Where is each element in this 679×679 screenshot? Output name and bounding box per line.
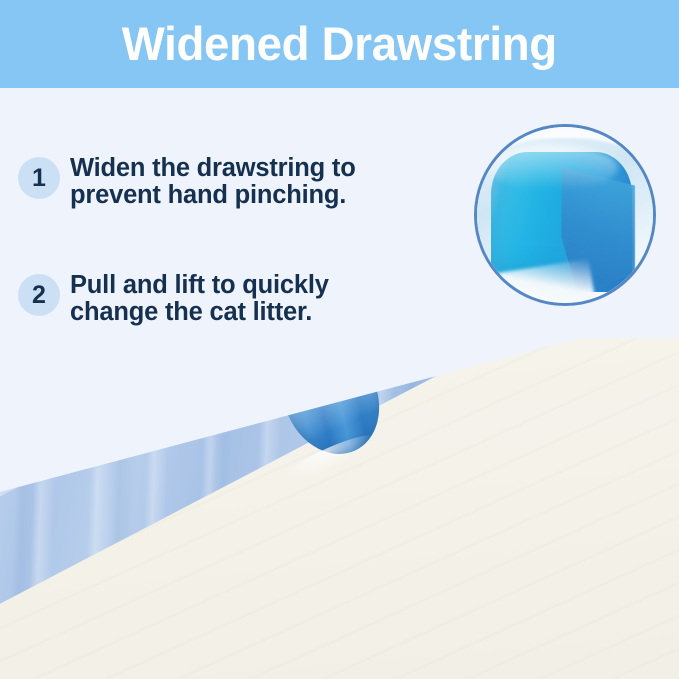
list-item-label: Widen the drawstring to prevent hand pin… bbox=[70, 155, 356, 210]
drawstring-closeup-inset bbox=[474, 124, 656, 306]
closeup-highlight bbox=[488, 145, 618, 191]
list-item: 1 Widen the drawstring to prevent hand p… bbox=[18, 155, 356, 210]
infographic-page: 1 Widen the drawstring to prevent hand p… bbox=[0, 0, 679, 679]
step-number-badge: 1 bbox=[18, 157, 60, 199]
list-item: 2 Pull and lift to quickly change the ca… bbox=[18, 272, 329, 327]
list-item-label: Pull and lift to quickly change the cat … bbox=[70, 272, 329, 327]
header-band: Widened Drawstring bbox=[0, 0, 679, 88]
step-number-badge: 2 bbox=[18, 274, 60, 316]
page-title: Widened Drawstring bbox=[122, 20, 557, 67]
